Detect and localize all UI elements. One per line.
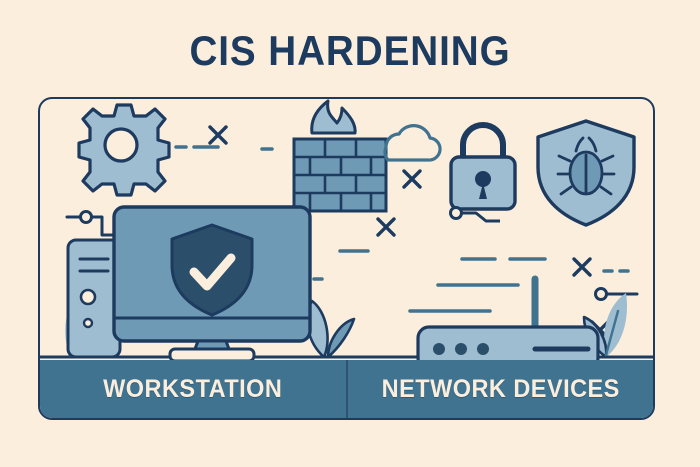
category-banner: WORKSTATION NETWORK DEVICES bbox=[40, 360, 653, 418]
illustration-card: WORKSTATION NETWORK DEVICES bbox=[38, 97, 655, 420]
x-mark-icon-4 bbox=[574, 259, 590, 275]
power-button-icon bbox=[81, 290, 95, 304]
dash-marks-left bbox=[176, 147, 272, 149]
router-icon bbox=[418, 279, 598, 369]
x-mark-icon-2 bbox=[404, 171, 420, 187]
banner-label-network-devices: NETWORK DEVICES bbox=[381, 375, 619, 404]
firewall-icon bbox=[294, 101, 386, 211]
dash-marks-right bbox=[298, 251, 628, 311]
banner-divider bbox=[346, 360, 348, 418]
plant-icon-center bbox=[307, 301, 354, 357]
node-connector-right-icon-2 bbox=[596, 289, 638, 300]
poster-canvas: CIS HARDENING bbox=[0, 0, 700, 467]
x-mark-icon-3 bbox=[378, 219, 394, 235]
banner-cell-network-devices[interactable]: NETWORK DEVICES bbox=[357, 360, 644, 418]
shield-bug-icon bbox=[538, 121, 634, 225]
led-indicator-icon bbox=[84, 319, 92, 327]
pc-tower-icon bbox=[68, 240, 120, 357]
banner-cell-workstation[interactable]: WORKSTATION bbox=[49, 360, 336, 418]
banner-label-workstation: WORKSTATION bbox=[103, 375, 282, 404]
page-title: CIS HARDENING bbox=[28, 30, 672, 72]
x-mark-icon bbox=[210, 127, 226, 143]
cloud-icon bbox=[385, 126, 440, 160]
gear-icon bbox=[79, 105, 169, 195]
padlock-icon bbox=[451, 125, 515, 209]
